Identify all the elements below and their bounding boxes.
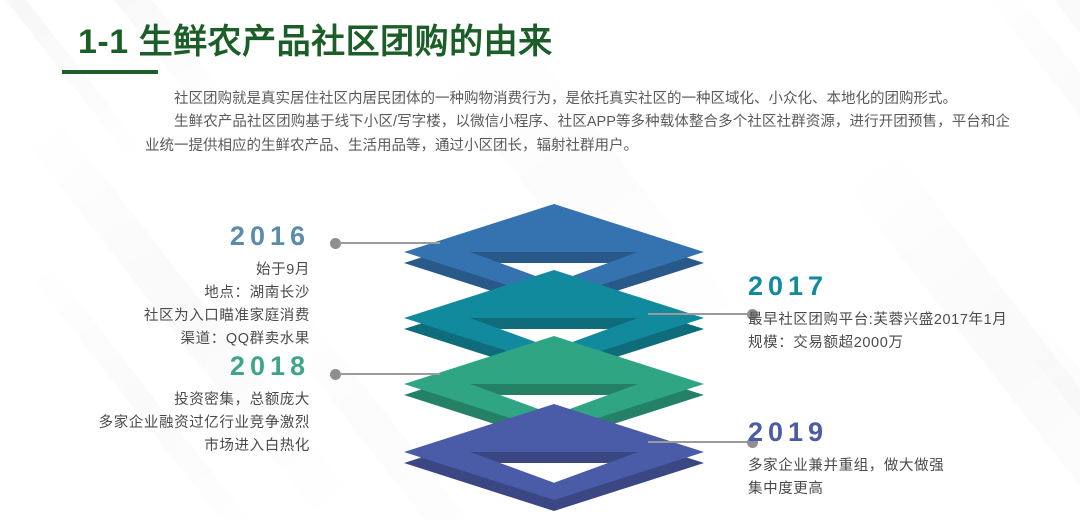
milestone-line: 规模：交易额超2000万: [748, 332, 1010, 355]
body-paragraph-2: 生鲜农产品社区团购基于线下小区/写字楼，以微信小程序、社区APP等多种载体整合多…: [145, 111, 1010, 158]
connector-line-2019: [648, 441, 749, 443]
milestone-year-2018: 2018: [20, 352, 310, 382]
milestone-lines-2016: 始于9月 地点：湖南长沙 社区为入口瞄准家庭消费 渠道：QQ群卖水果: [20, 259, 310, 352]
milestone-2019: 2019 多家企业兼并重组，做大做强 集中度更高: [748, 418, 1010, 501]
connector-dot-2016: [330, 238, 341, 249]
milestone-lines-2019: 多家企业兼并重组，做大做强 集中度更高: [748, 455, 1010, 501]
milestone-year-2019: 2019: [748, 418, 1010, 448]
milestone-line: 始于9月: [20, 259, 310, 282]
milestone-line: 投资密集，总额庞大: [20, 389, 310, 412]
milestone-line: 渠道：QQ群卖水果: [20, 328, 310, 351]
diamond-face-2019: [404, 404, 704, 500]
milestone-2016: 2016 始于9月 地点：湖南长沙 社区为入口瞄准家庭消费 渠道：QQ群卖水果: [20, 222, 310, 351]
milestone-line: 多家企业融资过亿行业竞争激烈: [20, 412, 310, 435]
connector-dot-2018: [330, 369, 341, 380]
milestone-line: 社区为入口瞄准家庭消费: [20, 305, 310, 328]
milestone-line: 集中度更高: [748, 478, 1010, 501]
milestone-2018: 2018 投资密集，总额庞大 多家企业融资过亿行业竞争激烈 市场进入白热化: [20, 352, 310, 458]
connector-line-2018: [339, 373, 440, 375]
milestone-lines-2017: 最早社区团购平台:芙蓉兴盛2017年1月 规模：交易额超2000万: [748, 309, 1010, 355]
connector-line-2016: [339, 242, 440, 244]
body-copy: 社区团购就是真实居住社区内居民团体的一种购物消费行为，是依托真实社区的一种区域化…: [145, 88, 1010, 158]
page-title: 1-1 生鲜农产品社区团购的由来: [78, 14, 553, 63]
title-underline: [62, 70, 158, 74]
milestone-2017: 2017 最早社区团购平台:芙蓉兴盛2017年1月 规模：交易额超2000万: [748, 272, 1010, 355]
body-paragraph-1: 社区团购就是真实居住社区内居民团体的一种购物消费行为，是依托真实社区的一种区域化…: [145, 88, 1010, 111]
diamond-layer-2019: [404, 404, 704, 512]
milestone-year-2016: 2016: [20, 222, 310, 252]
milestone-line: 市场进入白热化: [20, 435, 310, 458]
slide-canvas: 1-1 生鲜农产品社区团购的由来 社区团购就是真实居住社区内居民团体的一种购物消…: [0, 0, 1080, 520]
milestone-lines-2018: 投资密集，总额庞大 多家企业融资过亿行业竞争激烈 市场进入白热化: [20, 389, 310, 459]
milestone-line: 地点：湖南长沙: [20, 282, 310, 305]
milestone-line: 多家企业兼并重组，做大做强: [748, 455, 1010, 478]
diamond-stack: [404, 204, 704, 504]
milestone-line: 最早社区团购平台:芙蓉兴盛2017年1月: [748, 309, 1010, 332]
milestone-year-2017: 2017: [748, 272, 1010, 302]
connector-line-2017: [648, 313, 749, 315]
